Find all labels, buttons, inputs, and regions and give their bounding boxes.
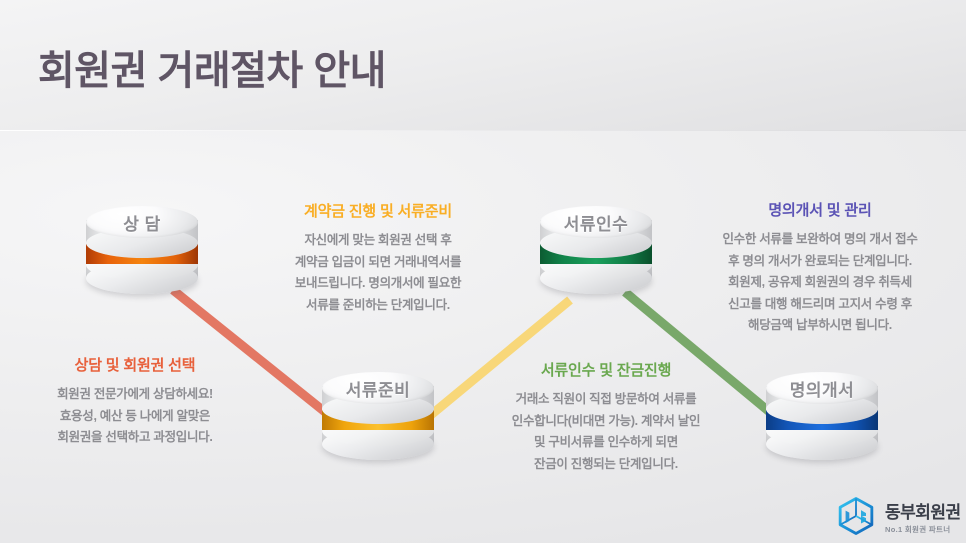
step-heading-3: 서류인수 및 잔금진행 [477, 359, 735, 380]
slide-canvas: 회원권 거래절차 안내 상 담 서류준비 [0, 0, 966, 543]
step-line: 서류를 준비하는 단계입니다. [253, 295, 503, 317]
step-heading-1: 상담 및 회원권 선택 [20, 354, 250, 375]
step-description-4: 명의개서 및 관리 인수한 서류를 보완하여 명의 개서 접수 후 명의 개서가… [688, 199, 952, 337]
step-line: 해당금액 납부하시면 됩니다. [688, 315, 952, 337]
step-line: 회원권을 선택하고 과정입니다. [20, 427, 250, 449]
step-description-2: 계약금 진행 및 서류준비 자신에게 맞는 회원권 선택 후 계약금 입금이 되… [253, 200, 503, 316]
logo-text-group: 동부회원권 No.1 회원권 파트너 [885, 498, 961, 535]
logo-tagline: No.1 회원권 파트너 [885, 524, 961, 535]
step-line: 자신에게 맞는 회원권 선택 후 [253, 230, 503, 252]
cube-logo-icon [836, 496, 876, 536]
step-line: 거래소 직원이 직접 방문하여 서류를 [477, 389, 735, 411]
step-line: 보내드립니다. 명의개서에 필요한 [253, 273, 503, 295]
step-heading-2: 계약금 진행 및 서류준비 [253, 200, 503, 221]
step-line: 및 구비서류를 인수하게 되면 [477, 432, 735, 454]
step-line: 잔금이 진행되는 단계입니다. [477, 454, 735, 476]
step-line: 인수합니다(비대면 가능). 계약서 날인 [477, 411, 735, 433]
step-cylinder-2[interactable]: 서류준비 [322, 366, 434, 466]
step-line: 신고를 대행 해드리며 고지서 수령 후 [688, 294, 952, 316]
step-cylinder-4[interactable]: 명의개서 [766, 366, 878, 466]
brand-logo[interactable]: 동부회원권 No.1 회원권 파트너 [836, 496, 961, 536]
cylinder-label-4: 명의개서 [766, 372, 878, 404]
step-line: 회원제, 공유제 회원권의 경우 취득세 [688, 272, 952, 294]
step-cylinder-3[interactable]: 서류인수 [540, 200, 652, 300]
step-cylinder-1[interactable]: 상 담 [86, 200, 198, 300]
step-line: 회원권 전문가에게 상담하세요! [20, 384, 250, 406]
cylinder-label-1: 상 담 [86, 206, 198, 238]
step-line: 계약금 입금이 되면 거래내역서를 [253, 252, 503, 274]
cylinder-label-3: 서류인수 [540, 206, 652, 238]
cylinder-label-2: 서류준비 [322, 372, 434, 404]
step-line: 인수한 서류를 보완하여 명의 개서 접수 [688, 229, 952, 251]
step-line: 후 명의 개서가 완료되는 단계입니다. [688, 251, 952, 273]
step-description-3: 서류인수 및 잔금진행 거래소 직원이 직접 방문하여 서류를 인수합니다(비대… [477, 359, 735, 475]
step-heading-4: 명의개서 및 관리 [688, 199, 952, 220]
logo-name: 동부회원권 [885, 498, 961, 523]
step-description-1: 상담 및 회원권 선택 회원권 전문가에게 상담하세요! 효용성, 예산 등 나… [20, 354, 250, 449]
step-line: 효용성, 예산 등 나에게 알맞은 [20, 406, 250, 428]
